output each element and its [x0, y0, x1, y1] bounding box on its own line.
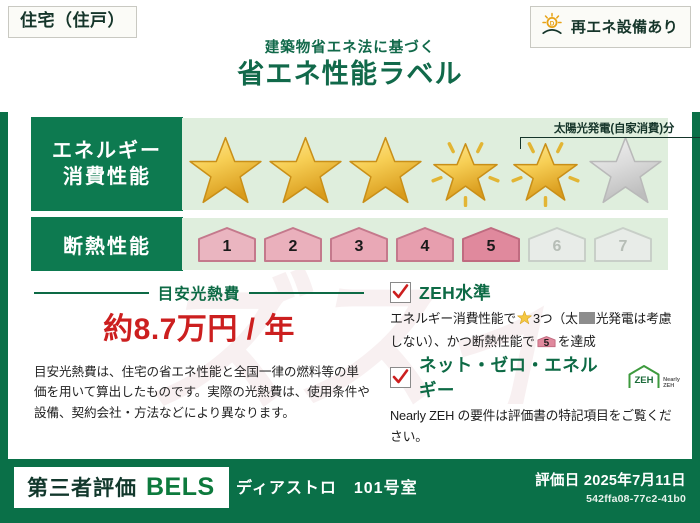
energy-performance-label: 住宅（住戸） D 再エネ設備あり 建築物省エネ法に基づく 省エネ性能ラベル ズス: [0, 0, 700, 523]
zeh-standard-checkbox[interactable]: [390, 282, 411, 303]
star-icon: [347, 133, 424, 207]
energy-label-line1: エネルギー: [52, 138, 162, 164]
bels-en-label: BELS: [146, 473, 215, 502]
zeh-standard-title: ZEH水準: [419, 280, 491, 305]
utility-cost-note: 目安光熱費は、住宅の省エネ性能と全国一律の燃料等の単価を用いて算出したものです。…: [34, 362, 370, 423]
insulation-level-number: 3: [328, 238, 390, 256]
utility-cost-heading: 目安光熱費: [34, 282, 364, 304]
inline-house-level: 5: [537, 336, 556, 352]
insulation-level-2: 2: [262, 225, 324, 263]
zeh-desc-part-b: （太: [553, 311, 578, 326]
net-zero-energy-checkbox[interactable]: [390, 367, 411, 388]
footer-right: 評価日 2025年7月11日 542ffa08-77c2-41b0: [535, 469, 686, 505]
property-name: ディアストロ 101号室: [236, 474, 418, 498]
zeh-logo: ZEH Nearly ZEH: [627, 364, 680, 390]
bels-jp-label: 第三者評価: [27, 472, 137, 502]
insulation-level-7: 7: [592, 225, 654, 263]
star-icon-solar: [427, 133, 504, 207]
solar-bracket: [520, 137, 700, 149]
net-zero-energy-description: Nearly ZEH の要件は評価書の特記項目をご覧ください。: [390, 406, 680, 447]
utility-cost-value: 約8.7万円 / 年: [34, 313, 364, 346]
insulation-level-number: 4: [394, 238, 456, 256]
renewable-equipment-badge: D 再エネ設備あり: [530, 6, 691, 48]
svg-text:D: D: [550, 21, 555, 28]
energy-label-line2: 消費性能: [63, 164, 151, 190]
insulation-performance-row: 断熱性能 1 2 3 4: [32, 218, 668, 270]
energy-performance-row: エネルギー 消費性能 太陽光発電(自家消費)分: [32, 118, 668, 210]
insulation-level-number: 7: [592, 238, 654, 256]
insulation-performance-label-box: 断熱性能: [32, 218, 182, 270]
net-zero-energy-heading: ネット・ゼロ・エネルギー ZEH Nearly ZEH: [390, 352, 680, 402]
main-card: ズスイデ エネルギー 消費性能 太陽光発電(自家消費)分: [8, 104, 692, 459]
zeh-desc-star-count: 3つ: [533, 311, 553, 326]
energy-performance-label-box: エネルギー 消費性能: [32, 118, 182, 210]
footer: 第三者評価 BELS ディアストロ 101号室 評価日 2025年7月11日 5…: [0, 459, 700, 523]
solar-annotation: 太陽光発電(自家消費)分: [514, 120, 700, 149]
star-icon: [187, 133, 264, 207]
insulation-scale: 1 2 3 4 5: [182, 218, 668, 270]
insulation-level-number: 1: [196, 238, 258, 256]
zeh-desc-part-d: を達成: [558, 334, 596, 349]
inline-star-icon: [517, 310, 532, 332]
evaluation-id: 542ffa08-77c2-41b0: [535, 493, 686, 505]
inline-insulation-house-icon: 5: [537, 334, 556, 349]
net-zero-energy-title: ネット・ゼロ・エネルギー: [419, 352, 614, 402]
insulation-level-number: 5: [460, 238, 522, 256]
star-rating-area: 太陽光発電(自家消費)分: [182, 118, 668, 210]
zeh-logo-sub2: ZEH: [663, 384, 680, 390]
zeh-standard-description: エネルギー消費性能で3つ（太光発電は考慮しない）、かつ断熱性能で5を達成: [390, 309, 680, 352]
insulation-level-number: 2: [262, 238, 324, 256]
utility-cost-heading-text: 目安光熱費: [158, 282, 241, 304]
insulation-level-6: 6: [526, 225, 588, 263]
zeh-standard-block: ZEH水準 エネルギー消費性能で3つ（太光発電は考慮しない）、かつ断熱性能で5を…: [390, 280, 680, 352]
bels-certification-box: 第三者評価 BELS: [14, 467, 229, 508]
heading-rule-right: [249, 292, 364, 294]
insulation-level-1: 1: [196, 225, 258, 263]
solar-sun-icon: D: [540, 12, 564, 41]
zeh-standard-heading: ZEH水準: [390, 280, 680, 305]
solar-annotation-label: 太陽光発電(自家消費)分: [514, 120, 700, 136]
insulation-level-5-achieved: 5: [460, 225, 522, 263]
title-main: 省エネ性能ラベル: [0, 58, 700, 92]
insulation-label: 断熱性能: [63, 230, 151, 259]
heading-rule-left: [34, 292, 149, 294]
utility-cost-block: 目安光熱費 約8.7万円 / 年: [34, 282, 364, 346]
redacted-text-block: [579, 312, 595, 324]
insulation-level-number: 6: [526, 238, 588, 256]
housing-type-chip: 住宅（住戸）: [8, 6, 137, 38]
zeh-desc-part-a: エネルギー消費性能で: [390, 311, 516, 326]
svg-text:ZEH: ZEH: [635, 375, 654, 386]
insulation-level-4: 4: [394, 225, 456, 263]
renewable-badge-label: 再エネ設備あり: [571, 16, 678, 37]
star-icon: [267, 133, 344, 207]
evaluation-date: 評価日 2025年7月11日: [535, 469, 686, 490]
insulation-level-3: 3: [328, 225, 390, 263]
net-zero-energy-block: ネット・ゼロ・エネルギー ZEH Nearly ZEH Nearly ZEH の…: [390, 352, 680, 447]
